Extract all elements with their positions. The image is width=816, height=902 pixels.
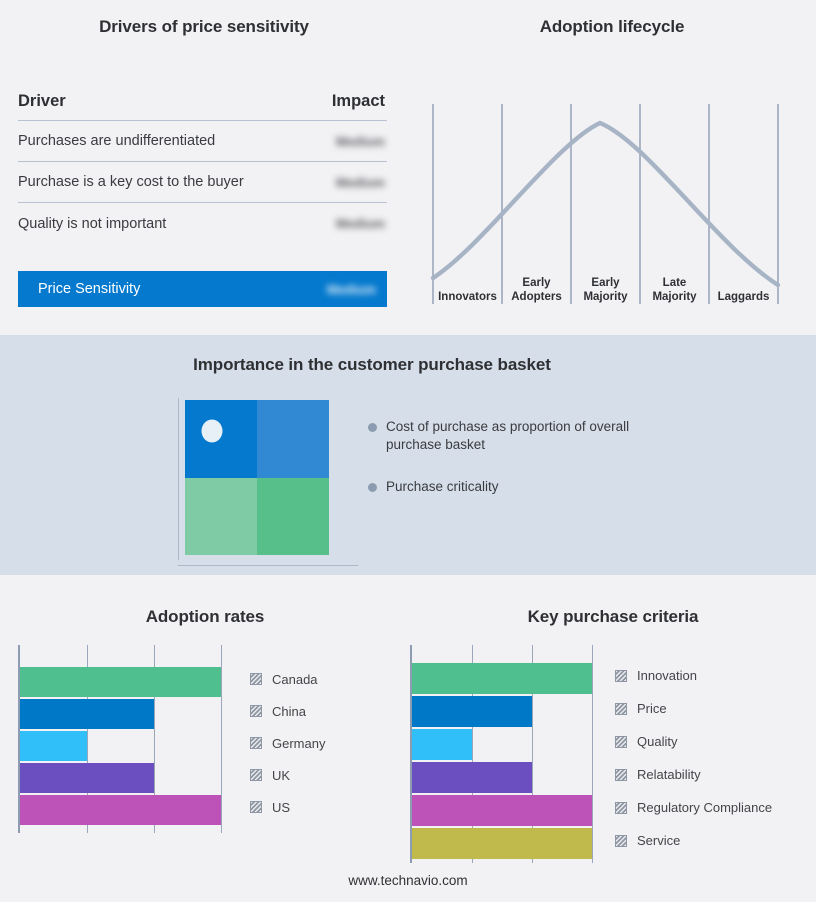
legend-swatch-icon [250,801,262,813]
adoption-lifecycle-chart: Innovators Early Adopters Early Majority… [425,78,795,310]
legend-swatch-icon [250,705,262,717]
table-row[interactable]: Purchases are undifferentiated Medium [18,121,387,162]
column-header-driver: Driver [18,92,66,111]
legend-swatch-icon [615,736,627,748]
bullet-icon [368,423,377,432]
list-item: Purchase criticality [368,478,668,496]
legend-swatch-icon [250,769,262,781]
legend-label: Relatability [637,767,701,782]
legend-item[interactable]: Relatability [615,758,772,791]
adoption-rates-legend: CanadaChinaGermanyUKUS [250,663,325,823]
bar-price[interactable] [412,696,532,727]
bar-relatability[interactable] [412,762,532,793]
list-item: Cost of purchase as proportion of overal… [368,418,668,454]
legend-item[interactable]: Canada [250,663,325,695]
legend-label: Germany [272,736,325,751]
legend-item[interactable]: UK [250,759,325,791]
quadrant-top-left[interactable] [185,400,257,478]
column-header-impact: Impact [332,92,387,111]
bar-canada[interactable] [20,667,221,697]
matrix-x-axis [178,565,358,566]
key-purchase-criteria-chart: InnovationPriceQualityRelatabilityRegula… [410,645,810,863]
legend-label: Regulatory Compliance [637,800,772,815]
drivers-table: Driver Impact Purchases are undifferenti… [18,92,387,244]
drivers-table-header: Driver Impact [18,92,387,121]
basket-panel-title: Importance in the customer purchase bask… [0,355,744,375]
bullet-icon [368,483,377,492]
legend-label: Innovation [637,668,697,683]
key-purchase-criteria-legend: InnovationPriceQualityRelatabilityRegula… [615,659,772,857]
bar-quality[interactable] [412,729,472,760]
legend-item[interactable]: Service [615,824,772,857]
bar-uk[interactable] [20,763,154,793]
legend-swatch-icon [250,673,262,685]
quadrant-top-right[interactable] [257,400,329,478]
summary-row-label: Price Sensitivity [38,281,140,297]
driver-label: Purchase is a key cost to the buyer [18,174,244,190]
adoption-rates-chart: CanadaChinaGermanyUKUS [18,645,388,833]
legend-swatch-icon [615,703,627,715]
basket-legend: Cost of purchase as proportion of overal… [368,418,668,520]
legend-label: Price [637,701,667,716]
legend-item[interactable]: Price [615,692,772,725]
legend-item[interactable]: China [250,695,325,727]
bar-us[interactable] [20,795,221,825]
legend-item[interactable]: Germany [250,727,325,759]
impact-value-redacted: Medium [336,216,387,231]
adoption-rates-plot [18,645,222,833]
legend-label: Canada [272,672,318,687]
table-row[interactable]: Quality is not important Medium [18,203,387,244]
legend-swatch-icon [615,802,627,814]
legend-swatch-icon [615,835,627,847]
adoption-rates-title: Adoption rates [0,607,410,627]
bar-china[interactable] [20,699,154,729]
legend-item[interactable]: US [250,791,325,823]
driver-label: Quality is not important [18,216,166,232]
legend-swatch-icon [615,769,627,781]
drivers-panel-title: Drivers of price sensitivity [0,17,408,37]
legend-label: China [272,704,306,719]
position-marker-dot [202,420,223,443]
bar-regulatory-compliance[interactable] [412,795,592,826]
infographic-page: Drivers of price sensitivity Driver Impa… [0,0,816,902]
bar-service[interactable] [412,828,592,859]
gridline [592,645,593,863]
key-purchase-criteria-plot [410,645,596,863]
legend-label: Cost of purchase as proportion of overal… [386,418,636,454]
lifecycle-panel-title: Adoption lifecycle [408,17,816,37]
price-sensitivity-summary-row[interactable]: Price Sensitivity Medium [18,271,387,307]
legend-swatch-icon [250,737,262,749]
legend-item[interactable]: Quality [615,725,772,758]
legend-item[interactable]: Innovation [615,659,772,692]
bar-innovation[interactable] [412,663,592,694]
impact-value-redacted: Medium [336,175,387,190]
table-row[interactable]: Purchase is a key cost to the buyer Medi… [18,162,387,203]
legend-label: Purchase criticality [386,478,499,496]
purchase-basket-matrix [178,398,358,566]
lifecycle-curve-svg [425,78,795,310]
legend-swatch-icon [615,670,627,682]
driver-label: Purchases are undifferentiated [18,133,215,149]
quadrant-bottom-right[interactable] [257,478,329,556]
gridline [221,645,222,833]
legend-label: Service [637,833,680,848]
legend-item[interactable]: Regulatory Compliance [615,791,772,824]
legend-label: UK [272,768,290,783]
impact-value-redacted: Medium [336,134,387,149]
bar-germany[interactable] [20,731,87,761]
matrix-y-axis [178,398,179,560]
matrix-quadrants [185,400,329,555]
summary-impact-value-redacted: Medium [327,282,376,297]
key-purchase-criteria-title: Key purchase criteria [410,607,816,627]
legend-label: US [272,800,290,815]
footer-url: www.technavio.com [0,873,816,888]
quadrant-bottom-left[interactable] [185,478,257,556]
legend-label: Quality [637,734,677,749]
